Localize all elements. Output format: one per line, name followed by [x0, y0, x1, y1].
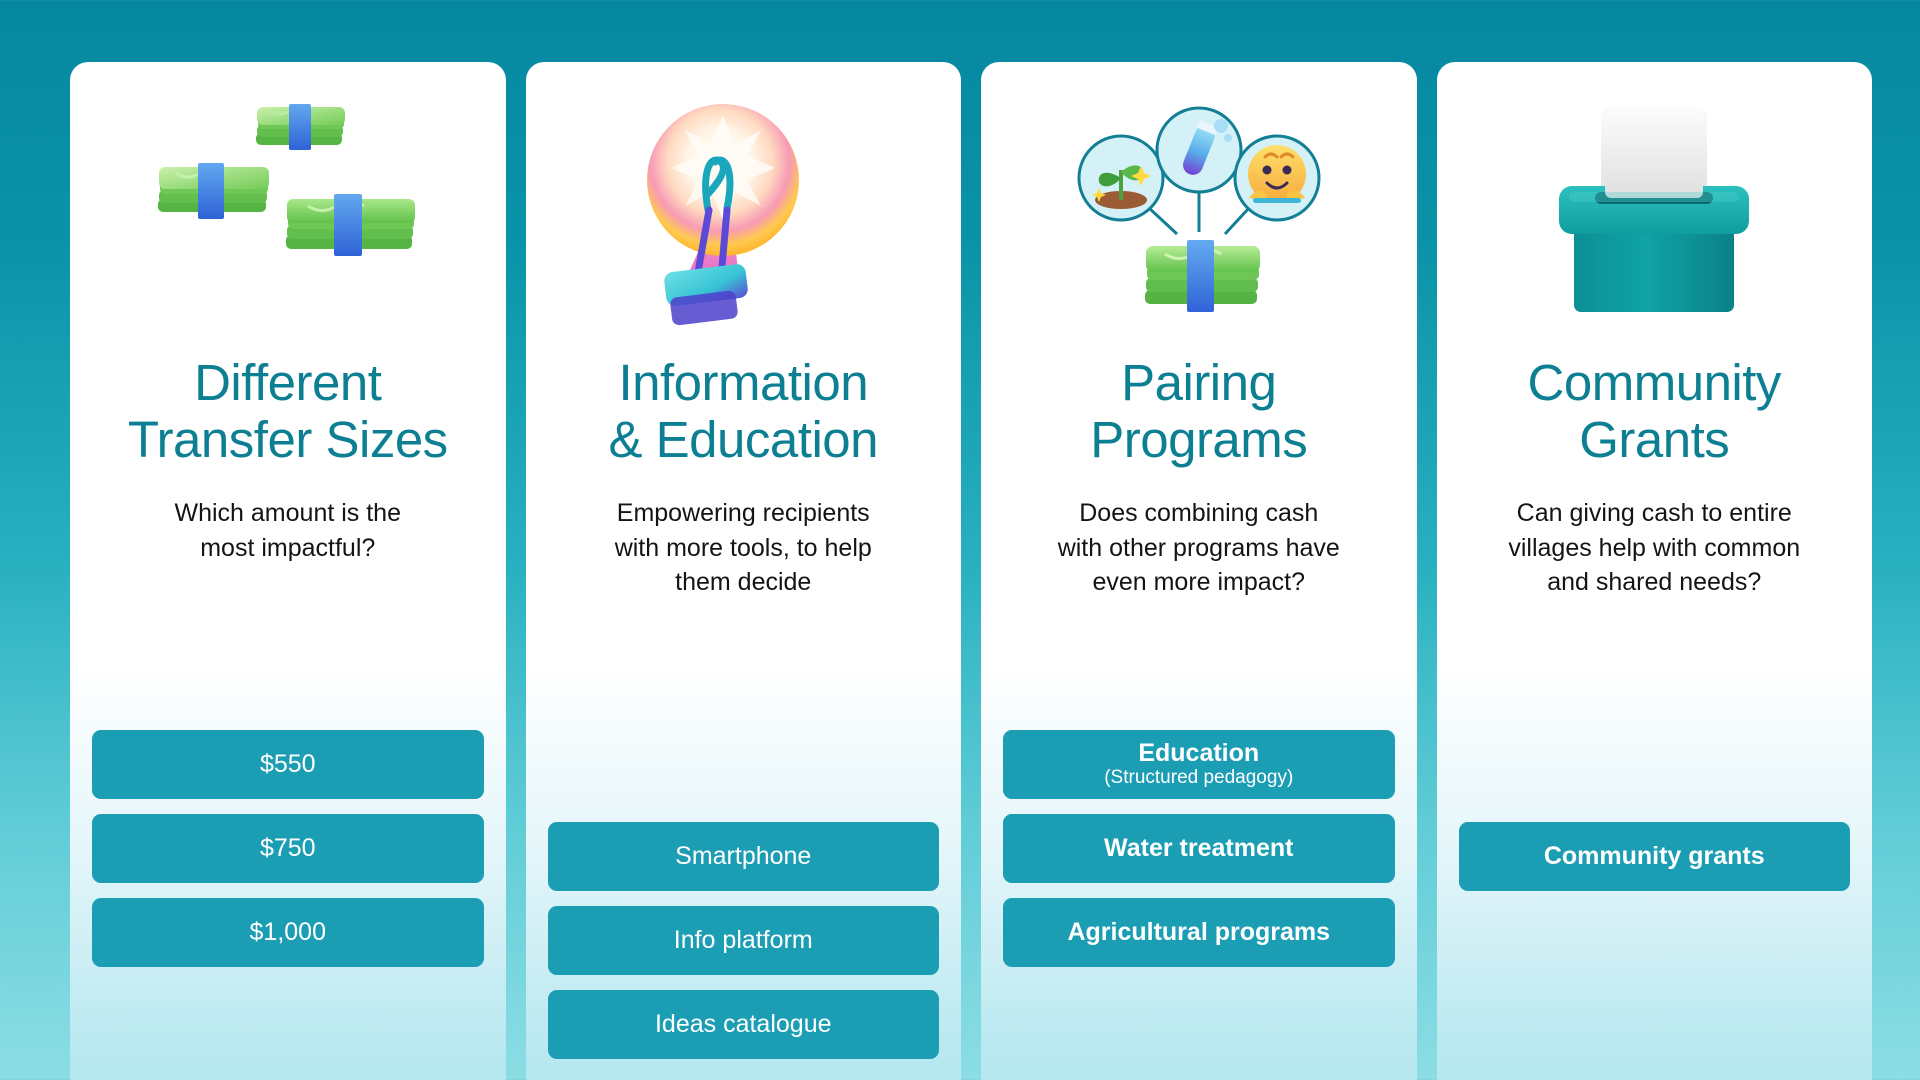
option-button-label: Community grants	[1544, 843, 1765, 871]
money-stacks-icon	[92, 62, 484, 352]
option-button-sublabel: (Structured pedagogy)	[1104, 768, 1293, 789]
card-information-and-education: Information & Education Empowering recip…	[526, 62, 962, 1080]
card-grid: Different Transfer Sizes Which amount is…	[70, 62, 1872, 1080]
option-button[interactable]: Community grants	[1459, 822, 1851, 891]
lightbulb-icon	[548, 62, 940, 352]
option-button-group: $550 $750 $1,000	[70, 730, 506, 967]
option-button[interactable]: Smartphone	[548, 822, 940, 891]
card-title: Community Grants	[1528, 354, 1781, 468]
card-subtitle: Does combining cash with other programs …	[1058, 496, 1340, 600]
option-button-label: $750	[260, 835, 316, 863]
option-button-label: Ideas catalogue	[655, 1011, 832, 1039]
option-button[interactable]: $750	[92, 814, 484, 883]
card-subtitle: Which amount is the most impactful?	[175, 496, 402, 565]
card-title: Different Transfer Sizes	[128, 354, 448, 468]
option-button-group: Smartphone Info platform Ideas catalogue	[526, 822, 962, 1059]
card-title: Information & Education	[608, 354, 878, 468]
option-button[interactable]: Info platform	[548, 906, 940, 975]
option-button-label: $550	[260, 751, 316, 779]
option-button[interactable]: Agricultural programs	[1003, 898, 1395, 967]
option-button-label: $1,000	[250, 919, 326, 947]
card-subtitle: Empowering recipients with more tools, t…	[615, 496, 872, 600]
card-different-transfer-sizes: Different Transfer Sizes Which amount is…	[70, 62, 506, 1080]
card-community-grants: Community Grants Can giving cash to enti…	[1437, 62, 1873, 1080]
option-button[interactable]: Ideas catalogue	[548, 990, 940, 1059]
option-button[interactable]: $550	[92, 730, 484, 799]
option-button-group: Community grants	[1437, 822, 1873, 891]
pairing-programs-icon	[1003, 62, 1395, 352]
option-button-group: Education (Structured pedagogy) Water tr…	[981, 730, 1417, 967]
option-button-label: Education	[1138, 740, 1259, 768]
option-button-label: Smartphone	[675, 843, 811, 871]
option-button[interactable]: Education (Structured pedagogy)	[1003, 730, 1395, 799]
option-button[interactable]: Water treatment	[1003, 814, 1395, 883]
option-button[interactable]: $1,000	[92, 898, 484, 967]
slide-canvas: Different Transfer Sizes Which amount is…	[0, 0, 1920, 1080]
option-button-label: Water treatment	[1104, 835, 1293, 863]
card-title: Pairing Programs	[1090, 354, 1307, 468]
ballot-box-icon	[1459, 62, 1851, 352]
option-button-label: Info platform	[674, 927, 813, 955]
card-subtitle: Can giving cash to entire villages help …	[1508, 496, 1800, 600]
option-button-label: Agricultural programs	[1067, 919, 1330, 947]
card-pairing-programs: Pairing Programs Does combining cash wit…	[981, 62, 1417, 1080]
